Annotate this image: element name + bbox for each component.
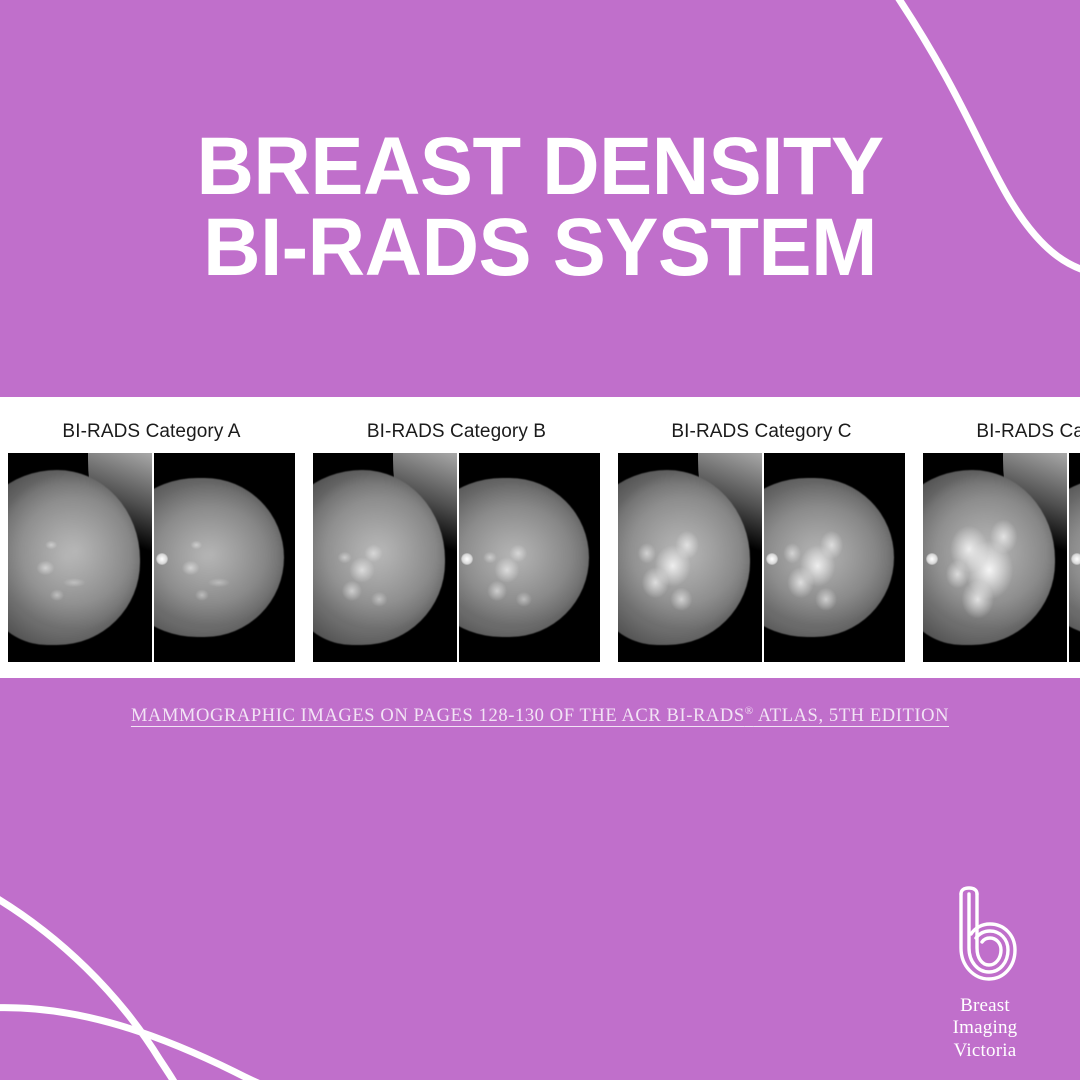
fibroglandular-texture xyxy=(313,453,457,662)
mammogram-mlo-view xyxy=(8,453,152,662)
source-caption: MAMMOGRAPHIC IMAGES ON PAGES 128-130 OF … xyxy=(0,705,1080,727)
fibroglandular-texture xyxy=(764,453,906,662)
title-line-2: BI-RADS SYSTEM xyxy=(55,207,1025,288)
fibroglandular-texture xyxy=(923,453,1067,662)
breast-imaging-victoria-b-mark-icon xyxy=(949,886,1021,986)
category-label: BI-RADS Category A xyxy=(62,421,240,443)
brand-logo: Breast Imaging Victoria xyxy=(920,886,1050,1062)
mammogram-mlo-view xyxy=(923,453,1067,662)
mammogram-cc-view xyxy=(1067,453,1080,662)
mammogram-mlo-view xyxy=(618,453,762,662)
mammogram-mlo-view xyxy=(313,453,457,662)
brand-logo-text: Breast Imaging Victoria xyxy=(953,995,1018,1062)
fibroglandular-texture xyxy=(459,453,601,662)
mammogram-cc-view xyxy=(762,453,906,662)
mammogram-category-a: BI-RADS Category A xyxy=(8,397,295,678)
brand-line-1: Breast xyxy=(953,995,1018,1017)
mammogram-row: BI-RADS Category A BI-RADS Category B xyxy=(8,397,1080,678)
bottom-left-arc-2-icon xyxy=(0,1008,320,1080)
caption-text-before: MAMMOGRAPHIC IMAGES ON PAGES 128-130 OF … xyxy=(131,706,745,726)
category-label: BI-RADS Category D xyxy=(976,421,1080,443)
category-label: BI-RADS Category C xyxy=(671,421,851,443)
mammogram-category-b: BI-RADS Category B xyxy=(313,397,600,678)
mammogram-band: BI-RADS Category A BI-RADS Category B xyxy=(0,397,1080,678)
category-image-pair xyxy=(8,453,295,662)
category-image-pair xyxy=(923,453,1080,662)
title-line-1: BREAST DENSITY xyxy=(55,126,1025,207)
fibroglandular-texture xyxy=(618,453,762,662)
fibroglandular-texture xyxy=(8,453,152,662)
poster-canvas: BREAST DENSITY BI-RADS SYSTEM BI-RADS Ca… xyxy=(0,0,1080,1080)
mammogram-cc-view xyxy=(457,453,601,662)
page-title: BREAST DENSITY BI-RADS SYSTEM xyxy=(0,126,1080,288)
mammogram-cc-view xyxy=(152,453,296,662)
category-image-pair xyxy=(313,453,600,662)
caption-text-after: ATLAS, 5TH EDITION xyxy=(754,706,949,726)
category-label: BI-RADS Category B xyxy=(367,421,546,443)
bottom-left-arc-1-icon xyxy=(0,893,182,1080)
brand-line-2: Imaging xyxy=(953,1017,1018,1039)
registered-trademark-icon: ® xyxy=(745,705,754,717)
brand-line-3: Victoria xyxy=(953,1040,1018,1062)
fibroglandular-texture xyxy=(154,453,296,662)
mammogram-category-c: BI-RADS Category C xyxy=(618,397,905,678)
nipple-marker xyxy=(1071,553,1080,565)
mammogram-category-d: BI-RADS Category D xyxy=(923,397,1080,678)
category-image-pair xyxy=(618,453,905,662)
